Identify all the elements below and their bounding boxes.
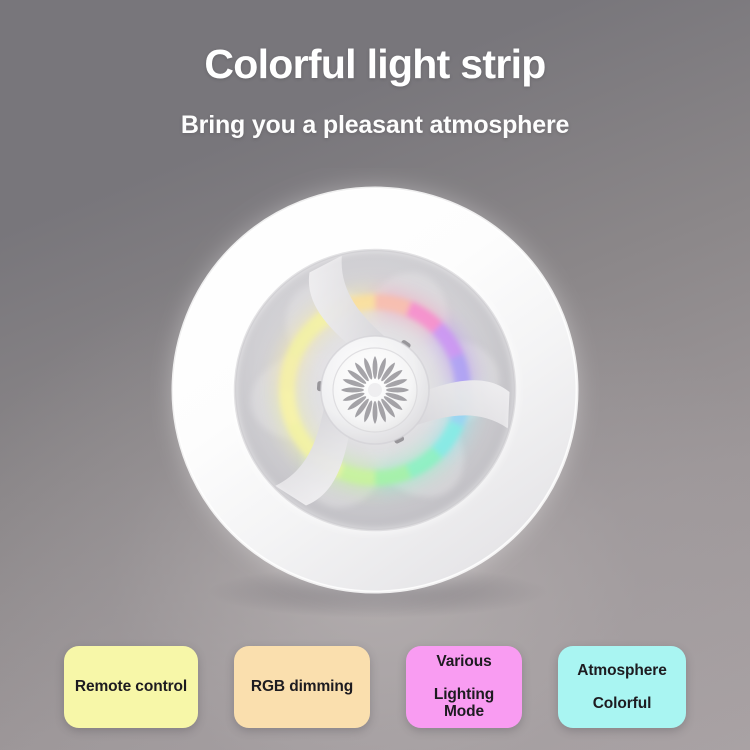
badge-remote-control[interactable]: Remote control <box>64 646 198 728</box>
product-stage <box>0 168 750 628</box>
badge-line: Various <box>436 653 491 671</box>
header-block: Colorful light strip Bring you a pleasan… <box>0 42 750 140</box>
badge-various-lighting-mode[interactable]: Various Lighting Mode <box>406 646 522 728</box>
product-illustration <box>140 168 610 618</box>
badge-line: Lighting Mode <box>416 686 512 722</box>
badge-line: Remote control <box>75 678 187 696</box>
badge-line: Atmosphere <box>577 662 666 680</box>
badge-rgb-dimming[interactable]: RGB dimming <box>234 646 370 728</box>
badge-line: Colorful <box>593 695 652 713</box>
badge-atmosphere-colorful[interactable]: Atmosphere Colorful <box>558 646 686 728</box>
product-poster: Colorful light strip Bring you a pleasan… <box>0 0 750 750</box>
page-title: Colorful light strip <box>0 42 750 88</box>
badge-line: RGB dimming <box>251 678 353 696</box>
feature-badge-row: Remote control RGB dimming Various Light… <box>0 646 750 728</box>
page-subtitle: Bring you a pleasant atmosphere <box>0 110 750 140</box>
